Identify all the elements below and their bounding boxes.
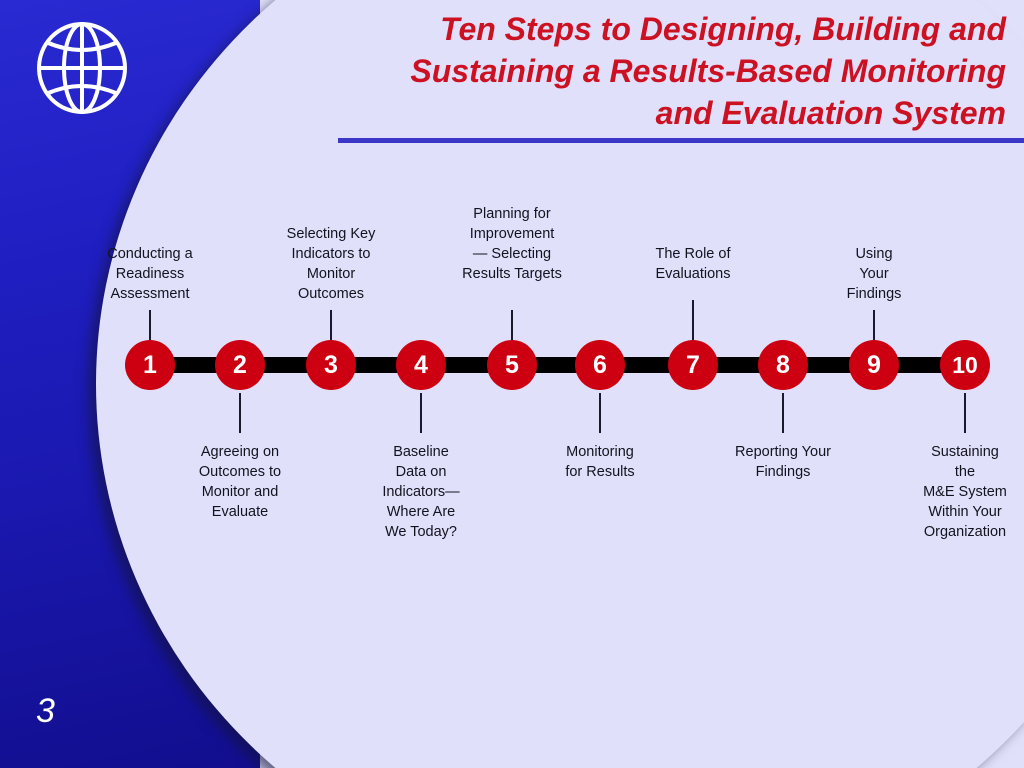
step-connector-line-4 (420, 393, 422, 433)
step-label-3: Selecting Key Indicators to Monitor Outc… (256, 224, 406, 304)
timeline-node-1[interactable]: 1 (125, 340, 175, 390)
timeline-node-7[interactable]: 7 (668, 340, 718, 390)
step-connector-line-8 (782, 393, 784, 433)
step-connector-line-5 (511, 310, 513, 340)
step-label-6: Monitoring for Results (525, 442, 675, 482)
step-label-4: Baseline Data on Indicators— Where Are W… (356, 442, 486, 542)
step-connector-line-6 (599, 393, 601, 433)
step-connector-line-2 (239, 393, 241, 433)
title-line-1: Ten Steps to Designing, Building and (316, 8, 1006, 50)
step-label-8: Reporting Your Findings (703, 442, 863, 482)
step-connector-line-1 (149, 310, 151, 340)
title-underline-rule (338, 138, 1024, 143)
timeline-node-2[interactable]: 2 (215, 340, 265, 390)
step-connector-line-9 (873, 310, 875, 340)
step-connector-line-3 (330, 310, 332, 340)
step-label-9: Using Your Findings (819, 244, 929, 304)
timeline-node-10[interactable]: 10 (940, 340, 990, 390)
step-label-10: Sustaining the M&E System Within Your Or… (895, 442, 1024, 542)
timeline-node-8[interactable]: 8 (758, 340, 808, 390)
presentation-slide: Ten Steps to Designing, Building and Sus… (0, 0, 1024, 768)
step-label-2: Agreeing on Outcomes to Monitor and Eval… (165, 442, 315, 522)
step-connector-line-10 (964, 393, 966, 433)
step-label-7: The Role of Evaluations (618, 244, 768, 284)
title-line-3: and Evaluation System (316, 92, 1006, 134)
timeline-node-3[interactable]: 3 (306, 340, 356, 390)
step-label-5: Planning for Improvement — Selecting Res… (427, 204, 597, 284)
timeline-node-4[interactable]: 4 (396, 340, 446, 390)
timeline-node-6[interactable]: 6 (575, 340, 625, 390)
slide-title: Ten Steps to Designing, Building and Sus… (316, 8, 1006, 134)
timeline-node-9[interactable]: 9 (849, 340, 899, 390)
step-connector-line-7 (692, 300, 694, 340)
globe-icon (28, 16, 136, 120)
step-label-1: Conducting a Readiness Assessment (75, 244, 225, 304)
timeline-node-5[interactable]: 5 (487, 340, 537, 390)
page-number: 3 (36, 692, 55, 731)
timeline-track (150, 357, 966, 373)
title-line-2: Sustaining a Results-Based Monitoring (316, 50, 1006, 92)
